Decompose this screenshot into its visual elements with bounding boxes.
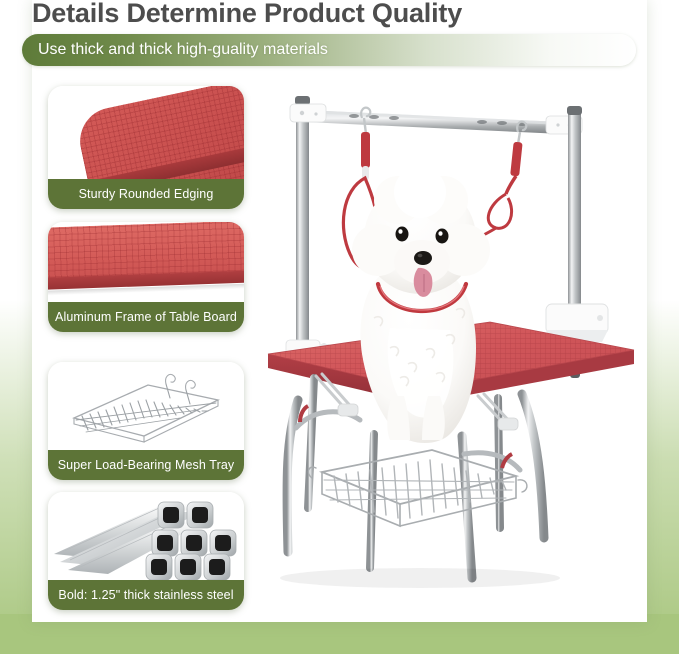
grooming-arm-right-post <box>567 106 582 316</box>
left-green-gradient <box>0 300 34 654</box>
feature-card-aluminum-frame: Aluminum Frame of Table Board <box>48 222 244 332</box>
hero-product-image <box>250 78 650 608</box>
grooming-loop-right <box>472 122 526 240</box>
grooming-table-illustration <box>250 78 650 608</box>
card-label-rounded-edging: Sturdy Rounded Edging <box>48 179 244 209</box>
card-label-mesh-tray: Super Load-Bearing Mesh Tray <box>48 450 244 480</box>
grooming-arm-horizontal-bar <box>290 104 582 134</box>
card-media-stainless-steel <box>48 492 244 580</box>
subtitle-text: Use thick and thick high-guality materia… <box>38 40 328 60</box>
grooming-arm-vertical-post <box>295 96 310 356</box>
card-media-rounded-edging <box>48 86 244 179</box>
feature-card-rounded-edging: Sturdy Rounded Edging <box>48 86 244 209</box>
bichon-frise-dog <box>352 166 490 443</box>
square-steel-tubes-icon <box>48 492 244 580</box>
card-label-stainless-steel: Bold: 1.25" thick stainless steel <box>48 580 244 610</box>
card-media-aluminum-frame <box>48 222 244 302</box>
card-media-mesh-tray <box>48 362 244 450</box>
wire-mesh-tray-icon <box>48 362 244 450</box>
feature-card-mesh-tray: Super Load-Bearing Mesh Tray <box>48 362 244 480</box>
feature-card-stainless-steel: Bold: 1.25" thick stainless steel <box>48 492 244 610</box>
infographic-page: Details Determine Product Quality Use th… <box>0 0 679 654</box>
card-label-aluminum-frame: Aluminum Frame of Table Board <box>48 302 244 332</box>
wire-storage-tray <box>309 450 527 526</box>
page-title: Details Determine Product Quality <box>32 0 632 28</box>
